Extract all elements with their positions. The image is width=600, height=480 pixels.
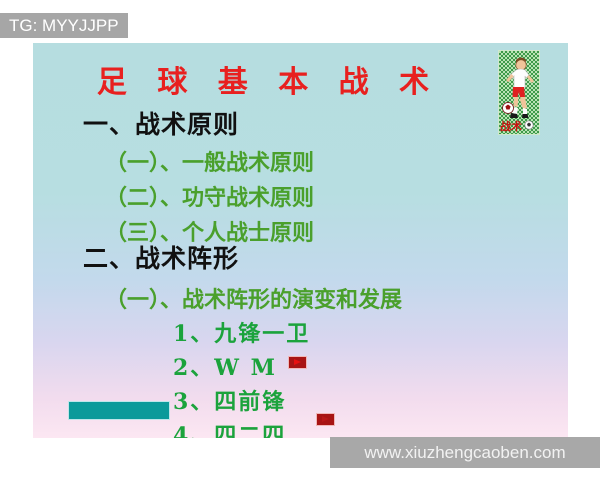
slide-screenshot: 足 球 基 本 战 术 [0, 0, 600, 480]
soccer-player-icon: 战术 [498, 50, 540, 135]
section-heading-two: 二、战术阵形 [83, 239, 239, 275]
list-item: （一）、一般战术原则 [105, 145, 314, 177]
list-item: 1、九锋一卫 [173, 316, 310, 348]
site-url-watermark: www.xiuzhengcaoben.com [330, 437, 600, 468]
video-play-marker-icon[interactable] [316, 413, 335, 426]
list-item: （二）、功守战术原则 [105, 180, 314, 212]
video-play-marker-icon[interactable] [288, 356, 307, 369]
list-item: 3、四前锋 [173, 384, 286, 416]
section-heading-one: 一、战术原则 [83, 105, 239, 141]
list-item: 2、W M [173, 350, 277, 382]
presentation-slide: 足 球 基 本 战 术 [33, 43, 568, 438]
list-item: 4、四二四 [173, 418, 286, 438]
teal-highlight-block [68, 401, 170, 420]
clipart-label: 战术 [500, 121, 522, 132]
list-item: （一）、战术阵形的演变和发展 [105, 282, 402, 314]
tg-channel-watermark: TG: MYYJJPP [0, 13, 128, 38]
page-title: 足 球 基 本 战 术 [33, 57, 503, 101]
